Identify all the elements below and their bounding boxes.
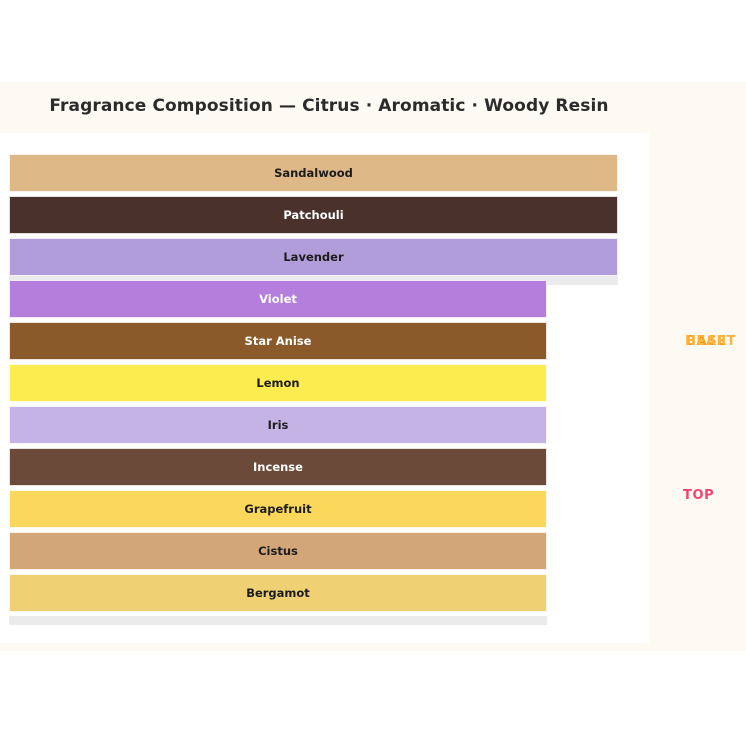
bar-patchouli[interactable]: Patchouli (9, 196, 618, 234)
bar-label: Bergamot (246, 586, 310, 600)
bar-label: Star Anise (245, 334, 312, 348)
axis-strip-lower (9, 616, 547, 625)
bar-cistus[interactable]: Cistus (9, 532, 547, 570)
annotation-heart: HEART (685, 334, 736, 349)
bar-sandalwood[interactable]: Sandalwood (9, 154, 618, 192)
bar-violet[interactable]: Violet (9, 280, 547, 318)
chart-title: Fragrance Composition — Citrus · Aromati… (0, 96, 658, 116)
bar-label: Grapefruit (244, 502, 311, 516)
bar-bergamot[interactable]: Bergamot (9, 574, 547, 612)
bar-lavender[interactable]: Lavender (9, 238, 618, 276)
bar-label: Incense (253, 460, 303, 474)
bar-label: Patchouli (283, 208, 343, 222)
bar-star-anise[interactable]: Star Anise (9, 322, 547, 360)
bar-series: SandalwoodPatchouliLavenderVioletStar An… (0, 133, 649, 643)
bar-label: Iris (268, 418, 289, 432)
bar-grapefruit[interactable]: Grapefruit (9, 490, 547, 528)
bar-label: Violet (259, 292, 297, 306)
bar-lemon[interactable]: Lemon (9, 364, 547, 402)
bar-incense[interactable]: Incense (9, 448, 547, 486)
bar-label: Cistus (258, 544, 298, 558)
chart-root: Fragrance Composition — Citrus · Aromati… (0, 0, 746, 746)
bar-label: Lavender (283, 250, 343, 264)
annotation-top: TOP (683, 488, 714, 503)
bar-iris[interactable]: Iris (9, 406, 547, 444)
bar-label: Lemon (256, 376, 299, 390)
bar-label: Sandalwood (274, 166, 353, 180)
